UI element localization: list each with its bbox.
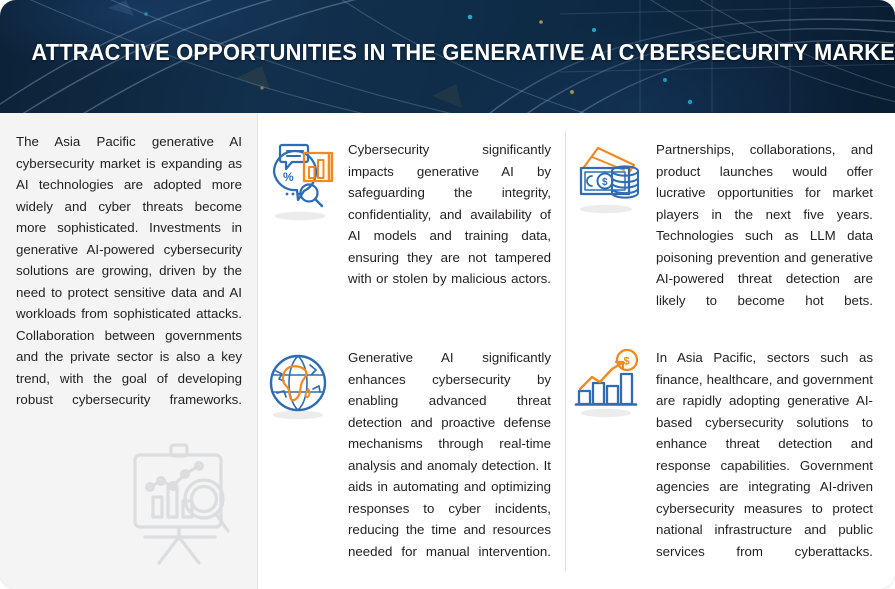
chat-percent-magnifier-barchart-icon: % — [264, 137, 340, 223]
svg-text:%: % — [283, 170, 294, 184]
money-banknote-coins-icon: $ — [572, 137, 648, 223]
card-partnerships-opportunities: $ Partnerships, collaborations, and prod… — [566, 113, 895, 338]
region-label: ASIA PACIFIC — [6, 445, 138, 565]
presentation-board-chart-magnifier-icon — [123, 439, 241, 567]
card-icon-wrapper — [264, 349, 340, 429]
region-label-text: ASIA PACIFIC — [0, 455, 2, 561]
infographic-page: ATTRACTIVE OPPORTUNITIES IN THE GENERATI… — [0, 0, 895, 589]
svg-text:$: $ — [602, 177, 608, 188]
card-text: Generative AI significantly enhances cyb… — [348, 347, 551, 562]
region-summary-paragraph: The Asia Pacific generative AI cybersecu… — [16, 131, 242, 411]
card-text: In Asia Pacific, sectors such as finance… — [656, 347, 873, 562]
header-banner: ATTRACTIVE OPPORTUNITIES IN THE GENERATI… — [0, 0, 895, 113]
content-area: The Asia Pacific generative AI cybersecu… — [0, 113, 895, 589]
page-title: ATTRACTIVE OPPORTUNITIES IN THE GENERATI… — [31, 39, 863, 66]
card-text: Partnerships, collaborations, and produc… — [656, 135, 873, 311]
cards-grid: % — [258, 113, 895, 589]
card-icon-wrapper: % — [264, 137, 340, 223]
card-cybersecurity-impact: % — [258, 113, 565, 338]
card-apac-sectors: $ In Asia Pacific, sectors such as finan… — [566, 339, 895, 589]
globe-icon — [264, 349, 340, 429]
left-summary-panel: The Asia Pacific generative AI cybersecu… — [0, 113, 258, 589]
card-icon-wrapper: $ — [572, 349, 648, 429]
card-genai-enhances-security: Generative AI significantly enhances cyb… — [258, 339, 565, 589]
card-text: Cybersecurity significantly impacts gene… — [348, 135, 551, 290]
svg-text:$: $ — [624, 356, 630, 368]
growth-barchart-dollar-icon: $ — [572, 349, 648, 429]
card-icon-wrapper: $ — [572, 137, 648, 223]
